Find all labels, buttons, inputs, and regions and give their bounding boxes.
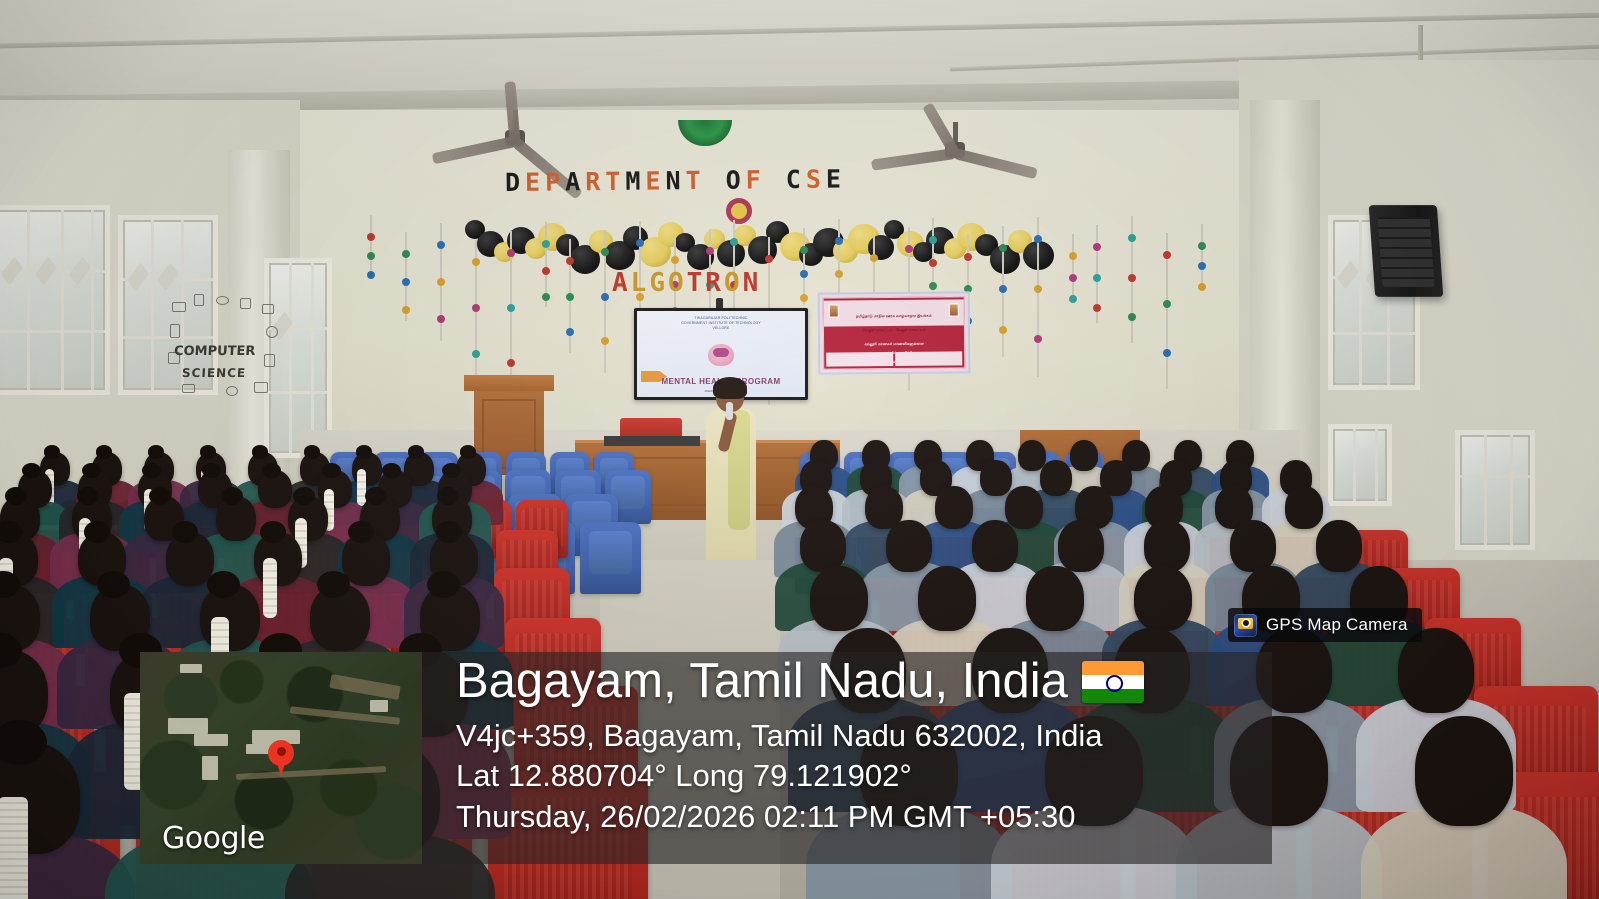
hair-bun (149, 487, 171, 505)
streamer-dot (402, 306, 410, 314)
event-name-banner: ALGOTRON (612, 268, 842, 300)
streamer-dot (1034, 235, 1042, 243)
banner-bottom-cells (826, 351, 962, 366)
streamer-dot (800, 246, 808, 254)
department-banner-letter-2: P (545, 167, 565, 196)
streamer-dot (437, 241, 445, 249)
streamer-dot (1128, 274, 1136, 282)
streamer-dot (367, 271, 375, 279)
hair-bun (262, 463, 281, 478)
hair-bun (82, 463, 101, 478)
streamer-dot (905, 245, 913, 253)
banner-line3: கல்லூரி மாணவர் மாணவிகளுக்கான (824, 341, 964, 347)
event-name-letter-5: R (705, 268, 724, 298)
google-watermark: Google (162, 821, 265, 856)
location-title: Bagayam, Tamil Nadu, India (456, 656, 1068, 708)
department-banner: DEPARTMENT OF CSE (505, 164, 895, 202)
stage-table (604, 436, 700, 446)
streamer-dot (437, 315, 445, 323)
streamer-dot (402, 250, 410, 258)
hair-bun (148, 445, 165, 459)
wall-art-line2: SCIENCE (182, 366, 247, 380)
department-banner-letter-4: R (585, 167, 605, 196)
hair-bun (172, 521, 198, 543)
auditorium-seat (580, 522, 641, 594)
streamer-dot (507, 359, 515, 367)
window-left-1 (0, 205, 110, 395)
streamer-dot (929, 282, 937, 290)
department-banner-letter-13 (766, 165, 786, 194)
india-flag-icon (1082, 661, 1144, 703)
audience-head (1415, 716, 1513, 826)
streamer-dot (507, 249, 515, 257)
hair-bun (460, 445, 477, 459)
department-banner-letter-12: F (746, 165, 766, 194)
streamer-dot (566, 293, 574, 301)
streamer-dot (671, 256, 679, 264)
banner-line2: வேலூர் மாவட்டம் - வேலூர் மாவட்டம் (824, 327, 964, 333)
audience-head (1144, 520, 1190, 572)
hair-bun (356, 445, 373, 459)
streamer-dot (765, 255, 773, 263)
streamer-dot (835, 237, 843, 245)
audience-head (1230, 520, 1276, 572)
gps-map-camera-label: GPS Map Camera (1266, 615, 1408, 635)
streamer-dot (1163, 349, 1171, 357)
hair-bun (5, 487, 27, 505)
audience-head (1316, 520, 1362, 572)
streamer-dot (1198, 242, 1206, 250)
department-banner-letter-1: E (525, 168, 545, 197)
presenter (700, 380, 762, 580)
streamer-dot (1128, 234, 1136, 242)
streamer-dot (730, 238, 738, 246)
streamer-dot (367, 252, 375, 260)
hair-bun (427, 571, 460, 598)
hair-bun (200, 445, 217, 459)
audience-head (1058, 520, 1104, 572)
streamer-dot (507, 304, 515, 312)
wall-art-computer-science: COMPUTER SCIENCE (168, 288, 286, 400)
event-name-letter-1: L (631, 268, 650, 298)
streamer-dot (999, 326, 1007, 334)
streamer-dot (1093, 243, 1101, 251)
department-banner-letter-9: T (685, 166, 705, 195)
gps-map-camera-badge: GPS Map Camera (1228, 608, 1422, 642)
streamer-dot (1163, 251, 1171, 259)
streamer (1072, 234, 1074, 303)
hair-bun (221, 487, 243, 505)
hair-bun (22, 463, 41, 478)
hair-bun (44, 445, 61, 459)
department-banner-letter-5: T (605, 167, 625, 196)
camera-app-icon (1234, 614, 1257, 637)
audience-head (886, 520, 932, 572)
streamer-dot (472, 350, 480, 358)
banner-line1: தமிழ்நாடு மாநில ஊரக வாழ்வாதார இயக்கம் (824, 313, 964, 319)
hair-bun (437, 487, 459, 505)
event-name-letter-3: O (668, 268, 687, 298)
department-banner-letter-14: C (786, 165, 806, 194)
streamer (932, 218, 934, 291)
ceiling-fan-left (455, 110, 575, 170)
streamer-dot (870, 254, 878, 262)
slide-header-line3: VELLORE (637, 326, 805, 331)
hair-bun (322, 463, 341, 478)
streamer-dot (1163, 300, 1171, 308)
hair-bun (304, 445, 321, 459)
flower-garland (263, 558, 277, 618)
hair-bun (202, 463, 221, 478)
hair-bun (348, 521, 374, 543)
department-banner-letter-11: O (726, 166, 746, 195)
hair-bun (408, 445, 425, 459)
audience-head (1134, 566, 1192, 631)
map-thumbnail: Google (140, 652, 422, 864)
event-name-letter-2: G (649, 268, 668, 298)
audience-head (1040, 460, 1072, 496)
hair-bun (260, 521, 286, 543)
hair-bun (96, 445, 113, 459)
streamer-dot (706, 247, 714, 255)
audience-head (972, 520, 1018, 572)
streamer-dot (542, 240, 550, 248)
streamer-dot (1198, 283, 1206, 291)
streamer (1201, 224, 1203, 289)
map-pin-icon (268, 740, 294, 766)
streamer-dot (1093, 274, 1101, 282)
hair-bun (77, 487, 99, 505)
streamer-dot (964, 253, 972, 261)
department-banner-letter-15: S (806, 165, 826, 194)
audience-head (1285, 486, 1323, 529)
audience-head (800, 520, 846, 572)
streamer-dot (1034, 285, 1042, 293)
hair-bun (382, 463, 401, 478)
department-banner-letter-8: N (665, 166, 685, 195)
brain-icon (708, 344, 734, 366)
department-banner-letter-16: E (826, 164, 846, 193)
hair-bun (317, 571, 350, 598)
streamer-dot (999, 244, 1007, 252)
streamer-dot (367, 233, 375, 241)
ceiling-fan-right (890, 122, 1020, 182)
flower-garland (0, 797, 28, 899)
hair-bun (442, 463, 461, 478)
microphone-icon (726, 402, 733, 420)
flower-garland (357, 469, 366, 507)
department-banner-letter-0: D (505, 168, 525, 197)
department-banner-letter-3: A (565, 167, 585, 196)
wall-art-line1: COMPUTER (174, 344, 256, 359)
streamer-dot (1034, 335, 1042, 343)
audience-head (980, 460, 1012, 496)
audience-head (918, 566, 976, 631)
streamer-dot (472, 258, 480, 266)
department-banner-letter-6: M (625, 167, 645, 196)
hair-bun (142, 463, 161, 478)
photo-canvas: COMPUTER SCIENCE DEPARTMENT OF CSE ALGOT… (0, 0, 1599, 899)
audience-head (1005, 486, 1043, 529)
streamer-dot (929, 236, 937, 244)
streamer-dot (402, 278, 410, 286)
event-name-letter-4: T (687, 268, 706, 298)
location-title-row: Bagayam, Tamil Nadu, India (456, 656, 1256, 708)
window-right-3 (1328, 424, 1392, 506)
timestamp-line: Thursday, 26/02/2026 02:11 PM GMT +05:30 (456, 797, 1256, 837)
audience-head (1070, 440, 1098, 471)
streamer-dot (929, 259, 937, 267)
streamer-dot (636, 239, 644, 247)
coordinates-line: Lat 12.880704° Long 79.121902° (456, 756, 1256, 796)
event-name-letter-0: A (612, 268, 631, 298)
audience-head (935, 486, 973, 529)
department-banner-letter-7: E (645, 166, 665, 195)
hair-bun (365, 487, 387, 505)
department-banner-letter-10 (705, 166, 725, 195)
audience-head (810, 566, 868, 631)
window-right-2 (1455, 430, 1535, 550)
streamer-dot (437, 278, 445, 286)
streamer-dot (601, 293, 609, 301)
hair-bun (252, 445, 269, 459)
streamer-dot (999, 285, 1007, 293)
streamer-dot (566, 257, 574, 265)
event-name-letter-6: O (724, 268, 743, 298)
pa-speaker-icon (1369, 205, 1444, 297)
streamer-dot (472, 304, 480, 312)
hair-bun (436, 521, 462, 543)
hair-bun (97, 571, 130, 598)
event-name-letter-7: N (743, 268, 762, 298)
streamer-dot (601, 248, 609, 256)
gps-text-block: Bagayam, Tamil Nadu, India V4jc+359, Bag… (456, 656, 1256, 837)
streamer (370, 215, 372, 275)
hair-bun (293, 487, 315, 505)
streamer-dot (1069, 252, 1077, 260)
wall-banner: தமிழ்நாடு மாநில ஊரக வாழ்வாதார இயக்கம் வே… (818, 291, 971, 374)
audience-head (1026, 566, 1084, 631)
hair-bun (84, 521, 110, 543)
slide-header: THIAGARAJAR POLYTECHNIC GOVERNMENT INSTI… (637, 316, 805, 331)
address-line: V4jc+359, Bagayam, Tamil Nadu 632002, In… (456, 716, 1256, 756)
streamer-dot (1069, 274, 1077, 282)
hair-bun (207, 571, 240, 598)
streamer-dot (542, 267, 550, 275)
